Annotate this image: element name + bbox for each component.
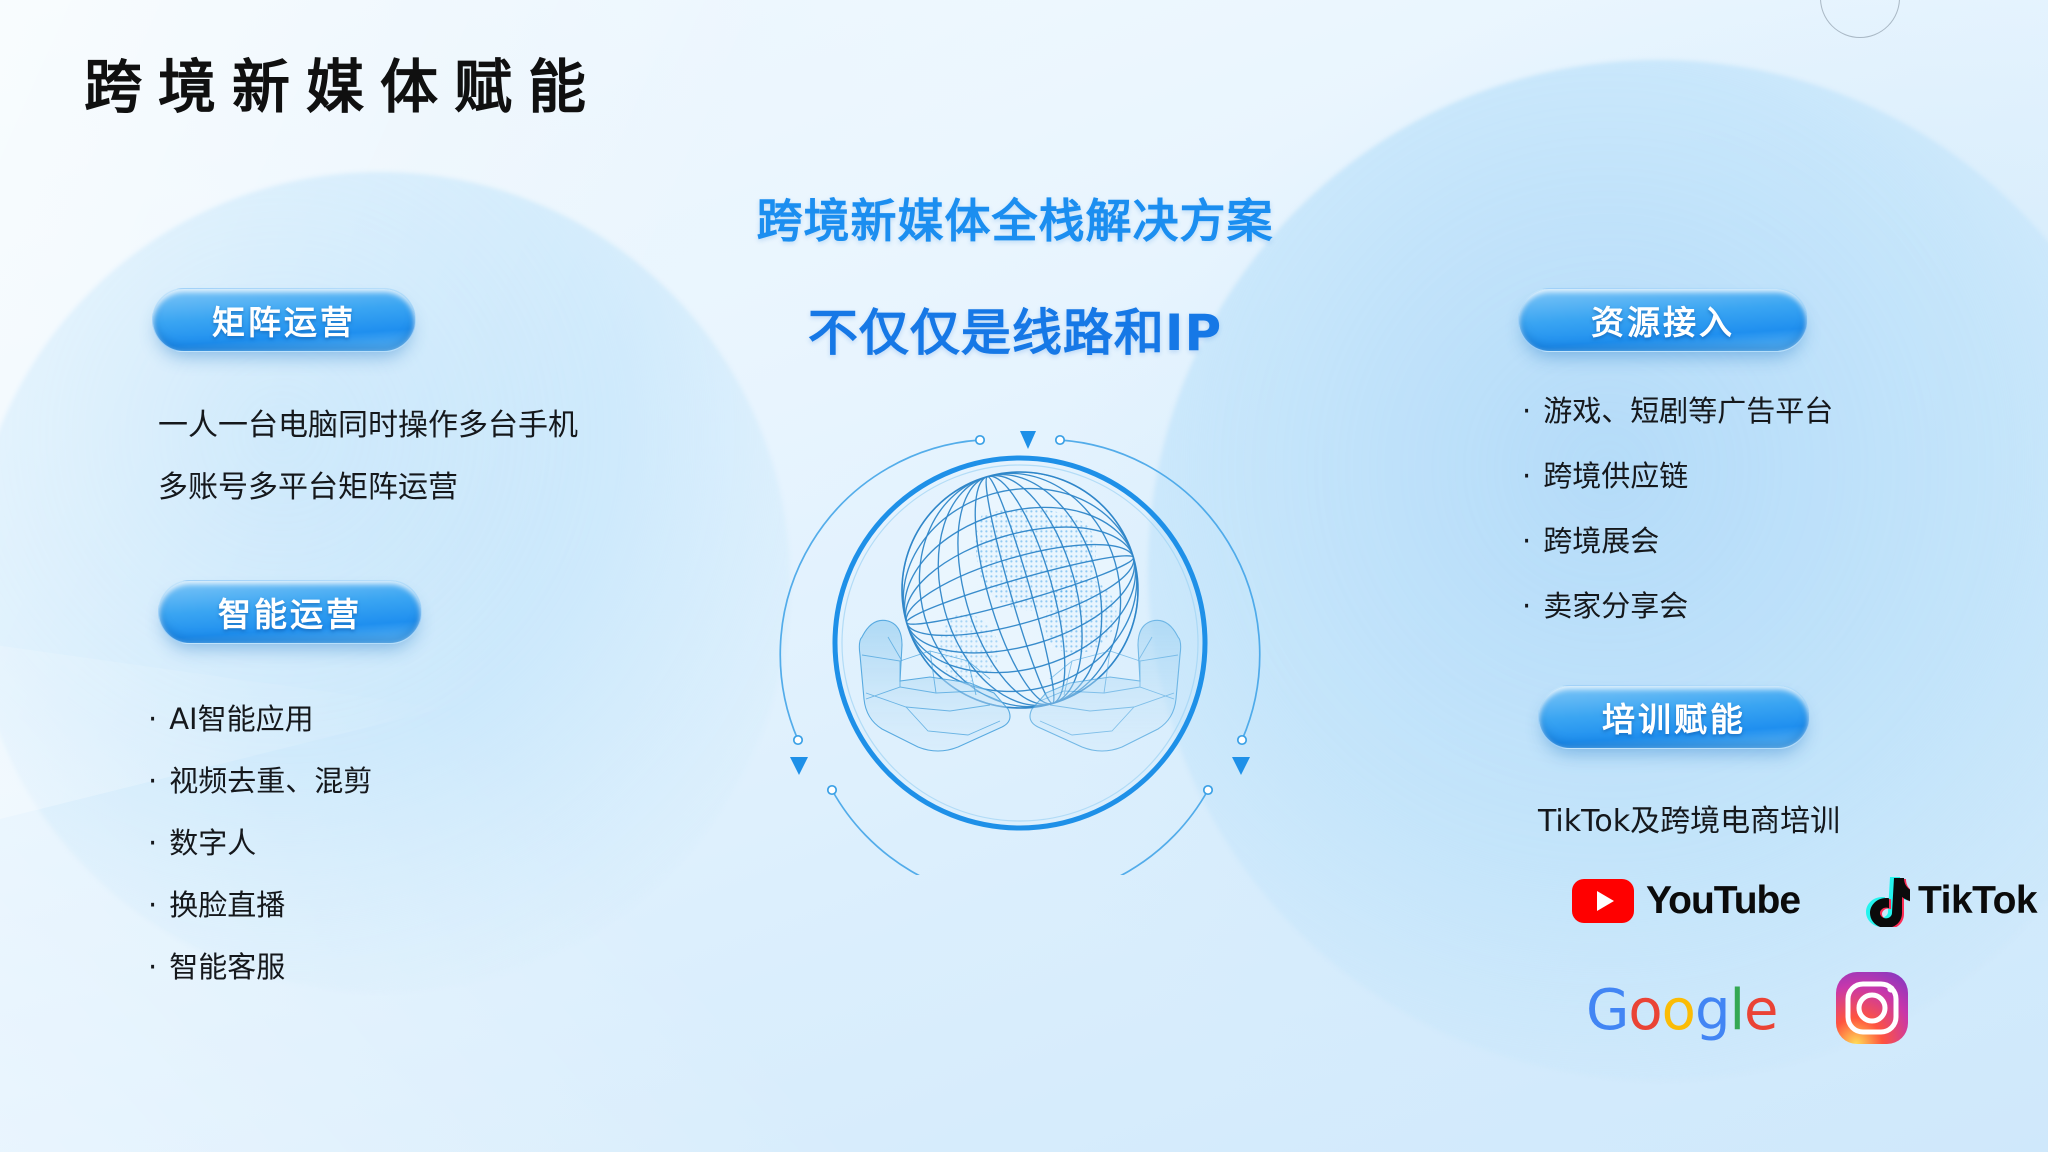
pill-training-empowerment[interactable]: 培训赋能 bbox=[1538, 685, 1810, 749]
google-letter-o1: o bbox=[1628, 978, 1661, 1043]
list-item-label: 跨境展会 bbox=[1543, 524, 1659, 558]
pill-label: 培训赋能 bbox=[1602, 693, 1746, 741]
decorative-circle-outline-icon bbox=[1820, 0, 1900, 38]
list-item: ·AI智能应用 bbox=[148, 696, 314, 738]
pill-smart-operations[interactable]: 智能运营 bbox=[158, 580, 422, 644]
list-item-label: 数字人 bbox=[169, 826, 256, 860]
list-item-label: AI智能应用 bbox=[169, 702, 313, 736]
list-item-label: 游戏、短剧等广告平台 bbox=[1543, 394, 1833, 428]
page-title: 跨境新媒体赋能 bbox=[84, 40, 602, 124]
bullet-marker-icon: · bbox=[1522, 589, 1531, 623]
pill-label: 智能运营 bbox=[218, 588, 362, 636]
right-text-line-1: TikTok及跨境电商培训 bbox=[1538, 796, 1840, 840]
google-letter-l: l bbox=[1729, 978, 1744, 1043]
left-text-line-2: 多账号多平台矩阵运营 bbox=[158, 462, 458, 506]
tiktok-logo[interactable]: TikTok bbox=[1864, 875, 2037, 927]
left-text-line-1: 一人一台电脑同时操作多台手机 bbox=[158, 400, 578, 444]
slide-canvas: 跨境新媒体赋能 跨境新媒体全栈解决方案 不仅仅是线路和IP 矩阵运营 一人一台电… bbox=[0, 0, 2048, 1152]
youtube-logo[interactable]: YouTube bbox=[1572, 879, 1800, 923]
center-heading-secondary: 不仅仅是线路和IP bbox=[620, 293, 1410, 365]
list-item-label: 智能客服 bbox=[169, 950, 285, 984]
list-item: ·视频去重、混剪 bbox=[148, 758, 372, 800]
globe-in-hands-illustration bbox=[770, 405, 1270, 875]
bullet-marker-icon: · bbox=[148, 888, 157, 922]
list-item: ·跨境供应链 bbox=[1522, 453, 1688, 495]
pill-label: 矩阵运营 bbox=[212, 296, 356, 344]
tiktok-note-icon bbox=[1864, 875, 1910, 927]
list-item: ·数字人 bbox=[148, 820, 256, 862]
list-item-label: 跨境供应链 bbox=[1543, 459, 1688, 493]
bullet-marker-icon: · bbox=[1522, 459, 1531, 493]
youtube-play-icon bbox=[1572, 879, 1634, 923]
bullet-marker-icon: · bbox=[148, 702, 157, 736]
bullet-marker-icon: · bbox=[148, 826, 157, 860]
bullet-marker-icon: · bbox=[1522, 524, 1531, 558]
bullet-marker-icon: · bbox=[1522, 394, 1531, 428]
bullet-marker-icon: · bbox=[148, 950, 157, 984]
list-item: ·智能客服 bbox=[148, 944, 285, 986]
center-heading-primary: 跨境新媒体全栈解决方案 bbox=[620, 185, 1410, 251]
list-item-label: 换脸直播 bbox=[169, 888, 285, 922]
youtube-label: YouTube bbox=[1646, 879, 1800, 923]
list-item: ·换脸直播 bbox=[148, 882, 285, 924]
list-item-label: 视频去重、混剪 bbox=[169, 764, 372, 798]
google-letter-g1: G bbox=[1586, 978, 1628, 1043]
google-letter-g2: g bbox=[1695, 978, 1730, 1043]
center-heading-group: 跨境新媒体全栈解决方案 不仅仅是线路和IP bbox=[620, 185, 1410, 365]
google-letter-e: e bbox=[1744, 978, 1777, 1043]
list-item: ·卖家分享会 bbox=[1522, 583, 1688, 625]
instagram-logo[interactable] bbox=[1834, 970, 1910, 1051]
list-item: ·游戏、短剧等广告平台 bbox=[1522, 388, 1833, 430]
list-item-label: 卖家分享会 bbox=[1543, 589, 1688, 623]
background-blob-right bbox=[1148, 60, 2048, 1080]
pill-matrix-operations[interactable]: 矩阵运营 bbox=[152, 288, 416, 352]
google-letter-o2: o bbox=[1662, 978, 1695, 1043]
list-item: ·跨境展会 bbox=[1522, 518, 1659, 560]
instagram-camera-icon bbox=[1834, 970, 1910, 1046]
logo-row-primary: YouTube TikTok bbox=[1572, 875, 2037, 927]
bullet-marker-icon: · bbox=[148, 764, 157, 798]
tiktok-label: TikTok bbox=[1918, 879, 2037, 923]
pill-resource-access[interactable]: 资源接入 bbox=[1518, 288, 1808, 352]
pill-label: 资源接入 bbox=[1591, 296, 1735, 344]
logo-row-secondary: Google bbox=[1586, 970, 1910, 1051]
google-logo[interactable]: Google bbox=[1586, 978, 1778, 1043]
